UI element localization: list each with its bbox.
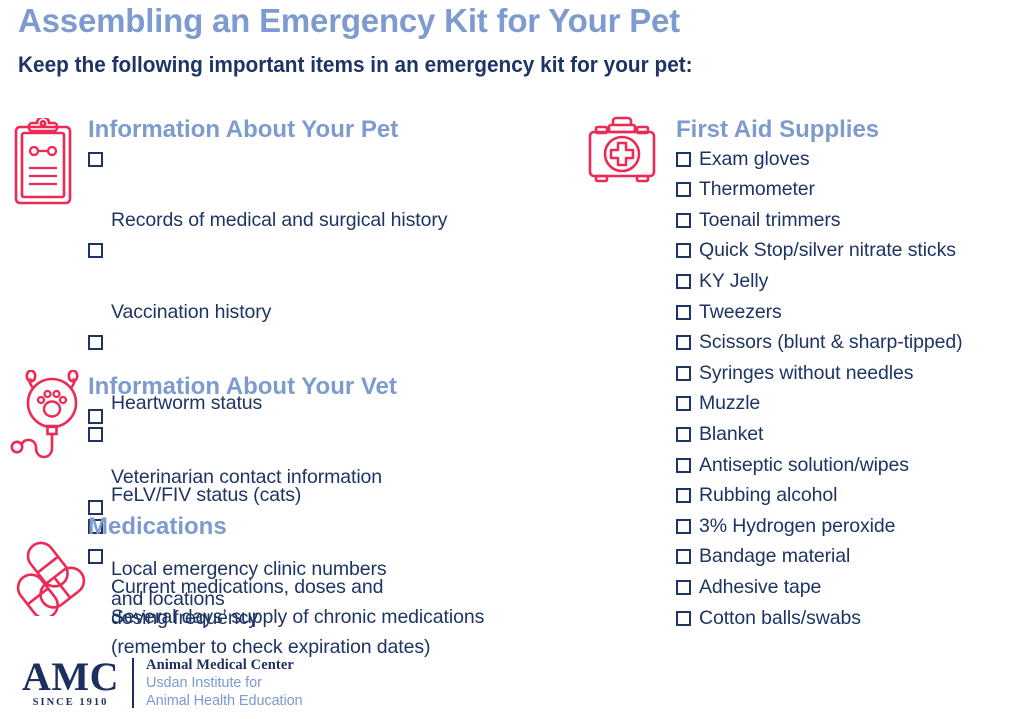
list-item[interactable]: Antiseptic solution/wipes — [676, 450, 1024, 481]
section-heading: Information About Your Pet — [88, 116, 588, 144]
list-item-label: Exam gloves — [699, 148, 810, 170]
logo-name-block: Animal Medical Center Usdan Institute fo… — [146, 656, 303, 710]
list-item-label: Tweezers — [699, 301, 782, 323]
checkbox[interactable] — [88, 549, 103, 564]
list-item[interactable]: Records of medical and surgical history — [88, 144, 588, 236]
section-heading: Information About Your Vet — [88, 373, 588, 401]
list-item-label: Blanket — [699, 423, 763, 445]
checkbox[interactable] — [676, 488, 691, 503]
list-item-label: Vaccination history — [111, 301, 271, 323]
logo-divider — [132, 658, 134, 708]
checklist: Several days’ supply of chronic medicati… — [88, 541, 588, 663]
checkbox[interactable] — [676, 366, 691, 381]
checkbox[interactable] — [676, 305, 691, 320]
list-item-label: KY Jelly — [699, 270, 768, 292]
logo-acronym: AMC — [22, 658, 119, 696]
list-item-label: Thermometer — [699, 178, 815, 200]
list-item-label: Several days’ supply of chronic medicati… — [111, 606, 484, 659]
checkbox[interactable] — [88, 243, 103, 258]
checkbox[interactable] — [676, 458, 691, 473]
checkbox[interactable] — [88, 152, 103, 167]
list-item[interactable]: Exam gloves — [676, 144, 1024, 175]
section-heading: Medications — [88, 513, 588, 541]
checkbox[interactable] — [676, 243, 691, 258]
list-item-label: Bandage material — [699, 545, 850, 567]
list-item-label: Antiseptic solution/wipes — [699, 454, 909, 476]
list-item-label: Veterinarian contact information — [111, 466, 382, 488]
checkbox[interactable] — [676, 580, 691, 595]
list-item[interactable]: Scissors (blunt & sharp-tipped) — [676, 327, 1024, 358]
list-item-label: Records of medical and surgical history — [111, 209, 447, 231]
list-item[interactable]: Blanket — [676, 419, 1024, 450]
pills-icon — [8, 530, 88, 616]
list-item[interactable]: Cotton balls/swabs — [676, 603, 1024, 634]
amc-logo: AMC SINCE 1910 Animal Medical Center Usd… — [22, 655, 303, 711]
checkbox[interactable] — [676, 274, 691, 289]
list-item[interactable]: Rubbing alcohol — [676, 480, 1024, 511]
list-item[interactable]: Several days’ supply of chronic medicati… — [88, 541, 588, 663]
section-heading: First Aid Supplies — [676, 116, 1024, 144]
checkbox[interactable] — [676, 427, 691, 442]
list-item[interactable]: Syringes without needles — [676, 358, 1024, 389]
list-item-label: Syringes without needles — [699, 362, 913, 384]
list-item[interactable]: Veterinarian contact information — [88, 401, 588, 493]
list-item[interactable]: Tweezers — [676, 297, 1024, 328]
checkbox[interactable] — [88, 335, 103, 350]
list-item-label: Rubbing alcohol — [699, 484, 837, 506]
list-item[interactable]: 3% Hydrogen peroxide — [676, 511, 1024, 542]
page-subtitle: Keep the following important items in an… — [18, 52, 693, 78]
list-item-label: Muzzle — [699, 392, 760, 414]
checkbox[interactable] — [676, 549, 691, 564]
clipboard-icon — [12, 118, 74, 206]
list-item-label: Toenail trimmers — [699, 209, 840, 231]
logo-since: SINCE 1910 — [33, 696, 109, 709]
list-item[interactable]: Thermometer — [676, 174, 1024, 205]
list-item-label: Adhesive tape — [699, 576, 821, 598]
list-item[interactable]: KY Jelly — [676, 266, 1024, 297]
list-item-label: Cotton balls/swabs — [699, 607, 861, 629]
page-title: Assembling an Emergency Kit for Your Pet — [18, 2, 680, 40]
list-item-label: 3% Hydrogen peroxide — [699, 515, 895, 537]
checkbox[interactable] — [676, 213, 691, 228]
list-item[interactable]: Muzzle — [676, 388, 1024, 419]
logo-org-name: Animal Medical Center — [146, 656, 303, 674]
checklist: Exam gloves Thermometer Toenail trimmers… — [676, 144, 1024, 634]
section-first-aid-supplies: First Aid Supplies Exam gloves Thermomet… — [676, 116, 1024, 633]
checkbox[interactable] — [676, 335, 691, 350]
list-item-label: Scissors (blunt & sharp-tipped) — [699, 331, 963, 353]
list-item[interactable]: Bandage material — [676, 541, 1024, 572]
checkbox[interactable] — [676, 152, 691, 167]
first-aid-kit-icon — [584, 112, 664, 190]
list-item[interactable]: Vaccination history — [88, 235, 588, 327]
logo-acronym-block: AMC SINCE 1910 — [22, 658, 132, 709]
checkbox[interactable] — [88, 409, 103, 424]
checkbox[interactable] — [676, 519, 691, 534]
checkbox[interactable] — [676, 611, 691, 626]
logo-institute-line-1: Usdan Institute for — [146, 674, 303, 692]
checkbox[interactable] — [676, 396, 691, 411]
checkbox[interactable] — [676, 182, 691, 197]
logo-institute-line-2: Animal Health Education — [146, 692, 303, 710]
stethoscope-icon — [8, 370, 88, 470]
list-item[interactable]: Adhesive tape — [676, 572, 1024, 603]
section-medications: Medications Several days’ supply of chro… — [88, 513, 588, 663]
infographic-page: Assembling an Emergency Kit for Your Pet… — [0, 0, 1024, 719]
list-item[interactable]: Toenail trimmers — [676, 205, 1024, 236]
list-item[interactable]: Quick Stop/silver nitrate sticks — [676, 235, 1024, 266]
list-item-label: Quick Stop/silver nitrate sticks — [699, 239, 956, 261]
